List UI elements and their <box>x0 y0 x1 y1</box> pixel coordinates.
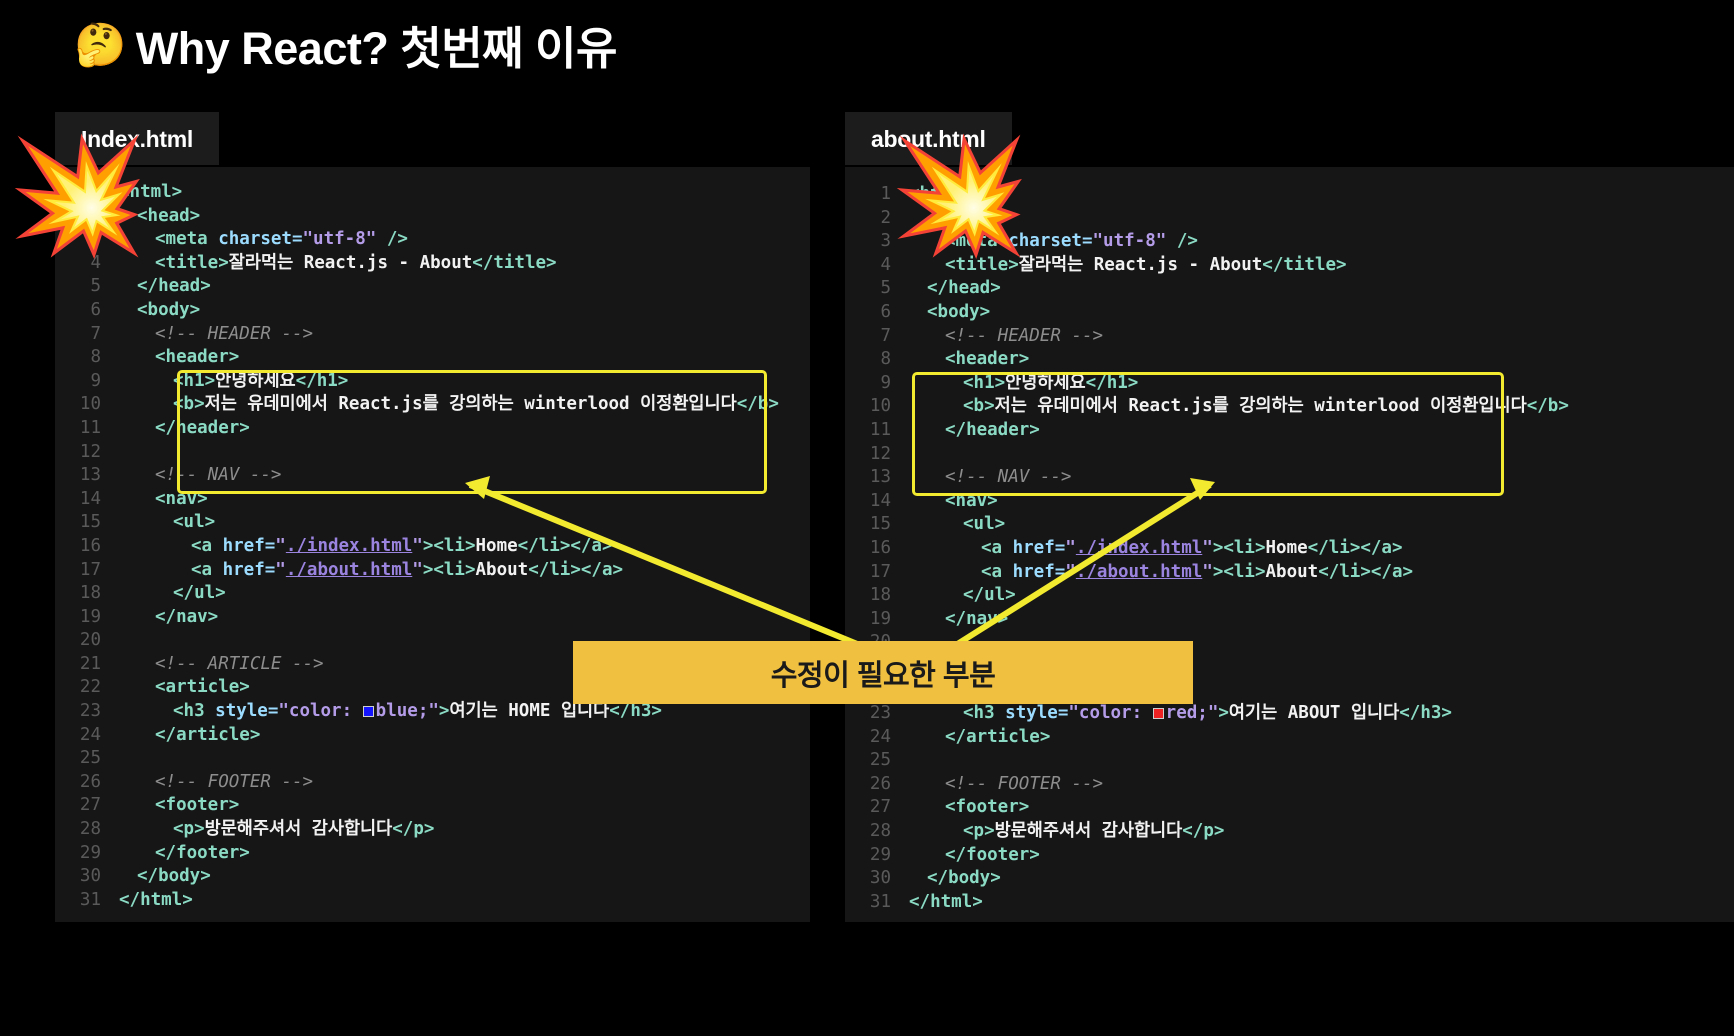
code-line: 15<ul> <box>845 513 1734 537</box>
code-line: 25 <box>845 749 1734 773</box>
code-token: " <box>412 560 423 580</box>
code-line: 27<footer> <box>55 794 810 818</box>
code-token: 방문해주셔서 감사합니다 <box>995 821 1183 841</box>
line-number: 29 <box>845 844 891 868</box>
code-token: > <box>439 701 450 721</box>
code-line: 6<body> <box>845 301 1734 325</box>
code-token: <a <box>191 560 223 580</box>
code-token: </body> <box>927 868 1001 888</box>
code-line: 28<p>방문해주셔서 감사합니다</p> <box>55 818 810 842</box>
code-token: </li></a> <box>518 536 613 556</box>
code-token: "color: <box>1068 703 1152 723</box>
code-token: </footer> <box>945 845 1040 865</box>
code-line: 13<!-- NAV --> <box>55 464 810 488</box>
line-number: 16 <box>845 537 891 561</box>
code-comment: <!-- HEADER --> <box>945 326 1103 346</box>
code-token: </h3> <box>1399 703 1452 723</box>
code-token: <a <box>191 536 223 556</box>
code-line: 27<footer> <box>845 796 1734 820</box>
line-number: 23 <box>845 702 891 726</box>
code-token: 저는 유데미에서 React.js를 강의하는 winterlood 이정환입니… <box>205 394 737 414</box>
code-line: 9<h1>안녕하세요</h1> <box>845 372 1734 396</box>
code-token: "color: <box>278 701 362 721</box>
line-number: 7 <box>845 325 891 349</box>
slide-canvas: 🤔 Why React? 첫번째 이유 Index.html 1<html>2<… <box>0 0 1734 1036</box>
code-token: </head> <box>137 276 211 296</box>
code-token: <p> <box>963 821 995 841</box>
code-token: <body> <box>137 300 200 320</box>
code-token: <p> <box>173 819 205 839</box>
code-token: <b> <box>173 394 205 414</box>
code-line: 12 <box>845 443 1734 467</box>
line-number: 11 <box>55 417 101 441</box>
code-token: <ul> <box>963 514 1005 534</box>
code-line: 26<!-- FOOTER --> <box>55 771 810 795</box>
code-line: 26<!-- FOOTER --> <box>845 773 1734 797</box>
code-token: "utf-8" <box>303 229 377 249</box>
thinking-face-icon: 🤔 <box>74 24 126 66</box>
code-token: <header> <box>945 349 1029 369</box>
code-link[interactable]: ./index.html <box>286 536 412 556</box>
code-line: 15<ul> <box>55 511 810 535</box>
line-number: 22 <box>55 676 101 700</box>
line-number: 14 <box>845 490 891 514</box>
code-token: Home <box>1266 538 1308 558</box>
code-token: <ul> <box>173 512 215 532</box>
code-token: " <box>1202 538 1213 558</box>
line-number: 2 <box>845 207 891 231</box>
code-token: charset= <box>218 229 302 249</box>
code-token: <a <box>981 562 1013 582</box>
code-editor-index[interactable]: 1<html>2<head>3<meta charset="utf-8" />4… <box>55 167 810 922</box>
code-token: </title> <box>472 253 556 273</box>
code-token: style= <box>215 701 278 721</box>
code-token: </li></a> <box>528 560 623 580</box>
line-number: 30 <box>55 865 101 889</box>
line-number: 27 <box>845 796 891 820</box>
line-number: 28 <box>55 818 101 842</box>
line-number: 17 <box>845 561 891 585</box>
code-token: " <box>1065 538 1076 558</box>
code-link[interactable]: ./index.html <box>1076 538 1202 558</box>
code-comment: <!-- ARTICLE --> <box>155 654 324 674</box>
line-number: 1 <box>845 183 891 207</box>
code-token: </title> <box>1262 255 1346 275</box>
code-line: 17<a href="./about.html"><li>About</li><… <box>845 561 1734 585</box>
line-number: 15 <box>845 513 891 537</box>
line-number: 16 <box>55 535 101 559</box>
line-number: 30 <box>845 867 891 891</box>
code-token: " <box>275 560 286 580</box>
code-token: </h1> <box>1086 373 1139 393</box>
line-number: 26 <box>55 771 101 795</box>
code-line: 5</head> <box>845 277 1734 301</box>
code-token: href= <box>223 536 276 556</box>
color-swatch-icon <box>363 706 374 717</box>
line-number: 12 <box>55 441 101 465</box>
code-line: 29</footer> <box>845 844 1734 868</box>
code-token: About <box>1266 562 1319 582</box>
code-line: 19</nav> <box>55 606 810 630</box>
code-token: 저는 유데미에서 React.js를 강의하는 winterlood 이정환입니… <box>995 396 1527 416</box>
code-line: 12 <box>55 441 810 465</box>
code-line: 14<nav> <box>55 488 810 512</box>
code-token: </p> <box>392 819 434 839</box>
line-number: 9 <box>845 372 891 396</box>
code-link[interactable]: ./about.html <box>1076 562 1202 582</box>
code-line: 2<head> <box>55 205 810 229</box>
code-token: ><li> <box>423 536 476 556</box>
code-line: 29</footer> <box>55 842 810 866</box>
code-token: <footer> <box>945 797 1029 817</box>
line-number: 10 <box>55 393 101 417</box>
code-line: 18</ul> <box>845 584 1734 608</box>
line-number: 13 <box>55 464 101 488</box>
code-token: <h1> <box>963 373 1005 393</box>
line-number: 28 <box>845 820 891 844</box>
code-editor-about[interactable]: 1<html>2<head>3<meta charset="utf-8" />4… <box>845 167 1734 922</box>
code-token: </nav> <box>945 609 1008 629</box>
code-token: </article> <box>155 725 260 745</box>
code-line: 16<a href="./index.html"><li>Home</li></… <box>845 537 1734 561</box>
code-token: </header> <box>945 420 1040 440</box>
code-token: <header> <box>155 347 239 367</box>
code-line: 28<p>방문해주셔서 감사합니다</p> <box>845 820 1734 844</box>
code-comment: <!-- NAV --> <box>945 467 1071 487</box>
code-token: </head> <box>927 278 1001 298</box>
code-token: " <box>275 536 286 556</box>
line-number: 25 <box>55 747 101 771</box>
code-token: href= <box>1013 538 1066 558</box>
code-line: 24</article> <box>55 724 810 748</box>
code-line: 30</body> <box>845 867 1734 891</box>
code-token: 방문해주셔서 감사합니다 <box>205 819 393 839</box>
code-comment: <!-- FOOTER --> <box>155 772 313 792</box>
code-token: " <box>1202 562 1213 582</box>
code-token: </b> <box>737 394 779 414</box>
code-token: ><li> <box>1213 562 1266 582</box>
code-line: 1<html> <box>55 181 810 205</box>
code-token: </footer> <box>155 843 250 863</box>
code-token: <nav> <box>155 489 208 509</box>
line-number: 10 <box>845 395 891 419</box>
line-number: 21 <box>55 653 101 677</box>
line-number: 31 <box>845 891 891 915</box>
line-number: 19 <box>55 606 101 630</box>
line-number: 26 <box>845 773 891 797</box>
code-lines-index: 1<html>2<head>3<meta charset="utf-8" />4… <box>55 167 810 912</box>
code-token: /> <box>376 229 408 249</box>
line-number: 8 <box>845 348 891 372</box>
line-number: 5 <box>55 275 101 299</box>
code-token: href= <box>223 560 276 580</box>
line-number: 6 <box>845 301 891 325</box>
line-number: 6 <box>55 299 101 323</box>
code-token: style= <box>1005 703 1068 723</box>
line-number: 17 <box>55 559 101 583</box>
code-line: 5</head> <box>55 275 810 299</box>
code-token: </ul> <box>963 585 1016 605</box>
code-token: Home <box>476 536 518 556</box>
code-line: 10<b>저는 유데미에서 React.js를 강의하는 winterlood … <box>55 393 810 417</box>
code-line: 9<h1>안녕하세요</h1> <box>55 370 810 394</box>
code-panel-index: Index.html 1<html>2<head>3<meta charset=… <box>55 112 810 922</box>
explosion-icon-index: 💥 <box>8 140 147 252</box>
callout-label: 수정이 필요한 부분 <box>771 652 996 694</box>
code-line: 18</ul> <box>55 582 810 606</box>
code-token: " <box>1065 562 1076 582</box>
code-line: 6<body> <box>55 299 810 323</box>
code-line: 30</body> <box>55 865 810 889</box>
code-token: </h3> <box>609 701 662 721</box>
code-line: 17<a href="./about.html"><li>About</li><… <box>55 559 810 583</box>
line-number: 23 <box>55 700 101 724</box>
code-line: 3<meta charset="utf-8" /> <box>55 228 810 252</box>
line-number: 13 <box>845 466 891 490</box>
callout-box: 수정이 필요한 부분 <box>573 641 1193 704</box>
code-token: 여기는 ABOUT 입니다 <box>1229 703 1399 723</box>
line-number: 8 <box>55 346 101 370</box>
code-line: 11</header> <box>845 419 1734 443</box>
code-token: red;" <box>1166 703 1219 723</box>
code-token: </li></a> <box>1308 538 1403 558</box>
code-token: /> <box>1166 231 1198 251</box>
line-number: 14 <box>55 488 101 512</box>
code-token: " <box>412 536 423 556</box>
code-comment: <!-- NAV --> <box>155 465 281 485</box>
line-number: 3 <box>845 230 891 254</box>
line-number: 20 <box>55 629 101 653</box>
code-token: <b> <box>963 396 995 416</box>
line-number: 5 <box>845 277 891 301</box>
code-line: 16<a href="./index.html"><li>Home</li></… <box>55 535 810 559</box>
code-token: </nav> <box>155 607 218 627</box>
code-token: ><li> <box>1213 538 1266 558</box>
code-token: <a <box>981 538 1013 558</box>
code-token: ><li> <box>423 560 476 580</box>
code-line: 10<b>저는 유데미에서 React.js를 강의하는 winterlood … <box>845 395 1734 419</box>
code-token: 여기는 HOME 입니다 <box>449 701 609 721</box>
code-token: > <box>1218 703 1229 723</box>
code-line: 14<nav> <box>845 490 1734 514</box>
code-line: 23<h3 style="color: red;">여기는 ABOUT 입니다<… <box>845 702 1734 726</box>
code-token: blue;" <box>376 701 439 721</box>
explosion-icon-about: 💥 <box>890 140 1029 252</box>
code-line: 19</nav> <box>845 608 1734 632</box>
code-token: <article> <box>155 677 250 697</box>
code-token: 잘라먹는 React.js - About <box>229 253 473 273</box>
line-number: 11 <box>845 419 891 443</box>
color-swatch-icon <box>1153 708 1164 719</box>
line-number: 27 <box>55 794 101 818</box>
code-token: </html> <box>119 890 193 910</box>
code-token: "utf-8" <box>1093 231 1167 251</box>
line-number: 19 <box>845 608 891 632</box>
line-number: 7 <box>55 323 101 347</box>
code-token: </article> <box>945 727 1050 747</box>
code-token: <body> <box>927 302 990 322</box>
code-link[interactable]: ./about.html <box>286 560 412 580</box>
code-token: </p> <box>1182 821 1224 841</box>
line-number: 31 <box>55 889 101 913</box>
code-token: <h1> <box>173 371 215 391</box>
code-token: </html> <box>909 892 983 912</box>
code-token: <meta <box>155 229 218 249</box>
code-token: 잘라먹는 React.js - About <box>1019 255 1263 275</box>
line-number: 12 <box>845 443 891 467</box>
code-token: <h3 <box>173 701 215 721</box>
code-token: <footer> <box>155 795 239 815</box>
code-token: </header> <box>155 418 250 438</box>
code-token: 안녕하세요 <box>215 371 296 391</box>
code-line: 7<!-- HEADER --> <box>55 323 810 347</box>
code-line: 31</html> <box>55 889 810 913</box>
page-title: 🤔 Why React? 첫번째 이유 <box>74 12 617 77</box>
code-token: 안녕하세요 <box>1005 373 1086 393</box>
line-number: 18 <box>845 584 891 608</box>
code-token: href= <box>1013 562 1066 582</box>
code-token: </h1> <box>296 371 349 391</box>
code-line: 8<header> <box>55 346 810 370</box>
code-line: 4<title>잘라먹는 React.js - About</title> <box>55 252 810 276</box>
line-number: 18 <box>55 582 101 606</box>
line-number: 15 <box>55 511 101 535</box>
code-token: <title> <box>155 253 229 273</box>
code-line: 11</header> <box>55 417 810 441</box>
code-token: <h3 <box>963 703 1005 723</box>
code-comment: <!-- FOOTER --> <box>945 774 1103 794</box>
line-number: 4 <box>845 254 891 278</box>
line-number: 25 <box>845 749 891 773</box>
page-title-text: Why React? 첫번째 이유 <box>136 12 617 77</box>
code-token: </body> <box>137 866 211 886</box>
code-line: 7<!-- HEADER --> <box>845 325 1734 349</box>
code-token: </b> <box>1527 396 1569 416</box>
line-number: 24 <box>845 726 891 750</box>
code-line: 24</article> <box>845 726 1734 750</box>
code-token: </li></a> <box>1318 562 1413 582</box>
code-token: </ul> <box>173 583 226 603</box>
line-number: 29 <box>55 842 101 866</box>
line-number: 24 <box>55 724 101 748</box>
code-line: 31</html> <box>845 891 1734 915</box>
code-line: 25 <box>55 747 810 771</box>
code-lines-about: 1<html>2<head>3<meta charset="utf-8" />4… <box>845 167 1734 914</box>
code-token: <nav> <box>945 491 998 511</box>
line-number: 9 <box>55 370 101 394</box>
code-comment: <!-- HEADER --> <box>155 324 313 344</box>
code-line: 13<!-- NAV --> <box>845 466 1734 490</box>
code-line: 8<header> <box>845 348 1734 372</box>
code-token: About <box>476 560 529 580</box>
